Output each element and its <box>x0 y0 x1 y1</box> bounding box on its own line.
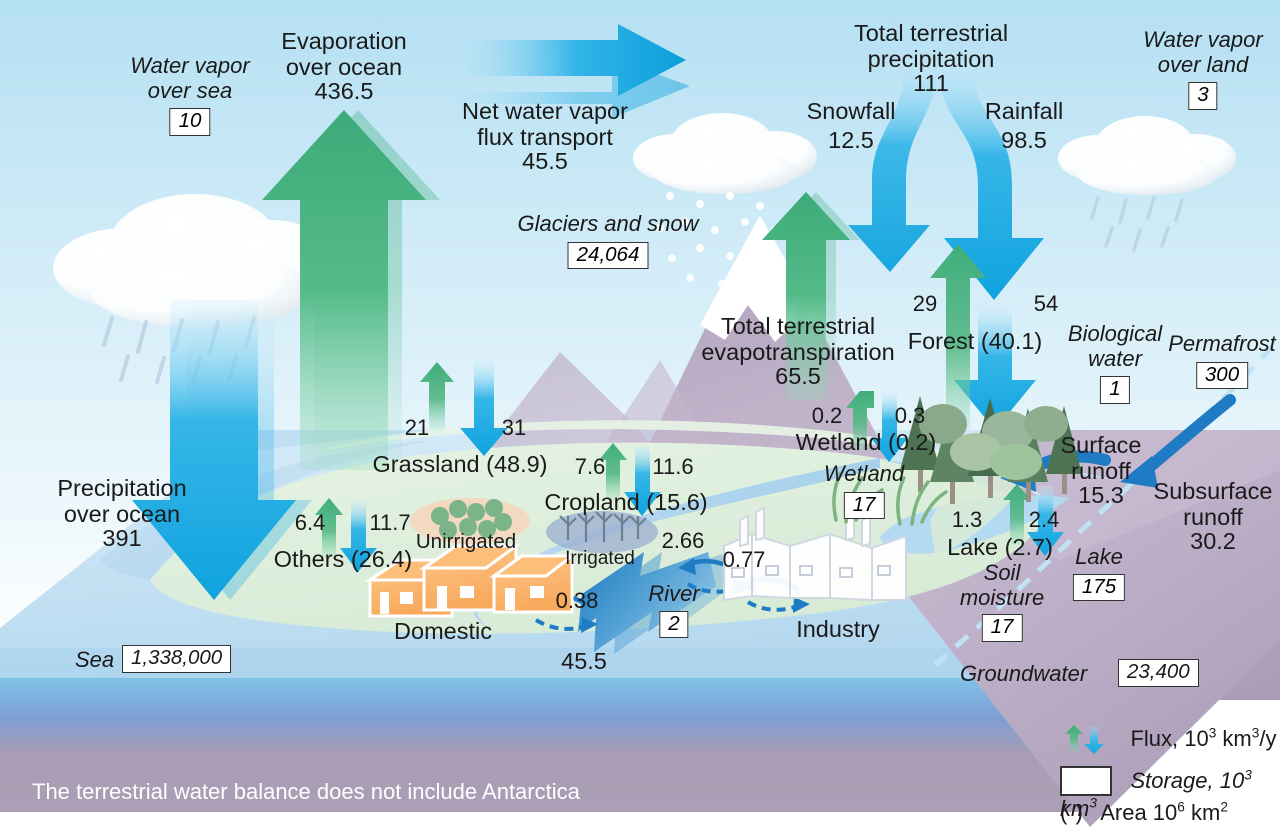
biological-water-group: Biological water 1 <box>1068 322 1162 404</box>
sea-value: 1,338,000 <box>122 645 231 673</box>
total-terrestrial-evapotranspiration-label: Total terrestrial evapotranspiration <box>701 313 894 366</box>
irrigated-plot-icon <box>546 511 658 553</box>
irrigated-label: Irrigated <box>565 548 635 569</box>
glaciers-and-snow-group: Glaciers and snow 24,064 <box>518 212 699 269</box>
river-storage-label: River <box>648 582 699 607</box>
legend-area-row: ( ) Area 106 km2 <box>1060 800 1228 826</box>
surface-runoff-value: 15.3 <box>1078 482 1124 508</box>
evaporation-over-ocean-label: Evaporation over ocean <box>281 28 406 81</box>
water-vapor-over-land-storage: 3 <box>1188 82 1217 110</box>
lake-up-value: 1.3 <box>952 508 983 533</box>
others-label: Others (26.4) <box>274 546 412 572</box>
total-terrestrial-precipitation-value: 111 <box>913 70 949 96</box>
legend-area-paren-icon: ( ) <box>1060 800 1084 825</box>
biological-water-storage: 1 <box>1100 376 1129 404</box>
lake-flux-label: Lake (2.7) <box>947 534 1053 560</box>
forest-up-value: 29 <box>913 292 937 317</box>
river-storage-value: 2 <box>659 611 688 639</box>
biological-water-label: Biological water <box>1068 322 1162 371</box>
rainfall-value: 98.5 <box>1001 127 1047 153</box>
total-terrestrial-precipitation-label: Total terrestrial precipitation <box>854 20 1008 73</box>
snowfall-value: 12.5 <box>828 127 874 153</box>
river-storage-group: River 2 <box>648 582 699 638</box>
legend-flux-arrows-icon <box>1060 724 1112 754</box>
rainfall-label: Rainfall <box>985 98 1063 124</box>
water-vapor-over-sea-storage: 10 <box>170 108 211 136</box>
forest-down-value: 54 <box>1034 292 1058 317</box>
total-terrestrial-evapotranspiration-value: 65.5 <box>775 363 821 389</box>
glaciers-and-snow-storage: 24,064 <box>568 242 649 270</box>
wetland-flux-label: Wetland (0.2) <box>796 429 937 455</box>
precipitation-over-ocean-label: Precipitation over ocean <box>57 475 186 528</box>
evaporation-over-ocean-value: 436.5 <box>315 78 374 104</box>
lake-storage-group: Lake 175 <box>1073 545 1125 601</box>
glaciers-and-snow-label: Glaciers and snow <box>518 212 699 237</box>
legend-storage-box-icon <box>1060 766 1112 796</box>
grassland-down-value: 31 <box>502 416 526 441</box>
water-cycle-diagram: Water vapor over sea 10 Evaporation over… <box>0 0 1280 827</box>
others-down-value: 11.7 <box>369 511 410 536</box>
grassland-label: Grassland (48.9) <box>372 451 547 477</box>
subsurface-runoff-label: Subsurface runoff <box>1154 478 1273 531</box>
permafrost-label: Permafrost <box>1168 332 1276 357</box>
groundwater-value: 23,400 <box>1118 659 1199 687</box>
subsurface-runoff-value: 30.2 <box>1190 528 1236 554</box>
net-vapor-flux-value: 45.5 <box>522 148 568 174</box>
footer-caption: The terrestrial water balance does not i… <box>32 779 580 805</box>
soil-moisture-label: Soil moisture <box>960 561 1044 610</box>
permafrost-group: Permafrost 300 <box>1168 332 1276 389</box>
domestic-label: Domestic <box>394 618 492 644</box>
irrigated-withdrawal-value: 2.66 <box>662 529 705 554</box>
lake-down-value: 2.4 <box>1029 508 1060 533</box>
soil-moisture-value: 17 <box>982 614 1023 642</box>
snowfall-label: Snowfall <box>807 98 896 124</box>
cropland-label: Cropland (15.6) <box>544 489 707 515</box>
soil-moisture-group: Soil moisture 17 <box>960 561 1044 642</box>
domestic-withdrawal-value: 0.38 <box>556 589 599 614</box>
cropland-up-value: 7.6 <box>575 455 606 480</box>
lake-storage-value: 175 <box>1073 574 1125 602</box>
groundwater-label: Groundwater <box>960 662 1087 687</box>
forest-label: Forest (40.1) <box>908 328 1043 354</box>
water-vapor-over-sea-group: Water vapor over sea 10 <box>130 54 249 136</box>
permafrost-storage: 300 <box>1196 362 1248 390</box>
surface-runoff-label: Surface runoff <box>1061 432 1142 485</box>
industry-withdrawal-value: 0.77 <box>723 548 766 573</box>
industry-label: Industry <box>796 616 880 642</box>
lake-storage-label: Lake <box>1073 545 1125 570</box>
grassland-up-value: 21 <box>405 416 429 441</box>
sea-label: Sea <box>75 648 114 673</box>
river-discharge-value: 45.5 <box>561 648 607 674</box>
legend-area-text: Area 106 km2 <box>1100 800 1228 825</box>
wetland-storage-label: Wetland <box>824 462 904 487</box>
wetland-storage-value: 17 <box>844 492 885 520</box>
wetland-storage-group: Wetland 17 <box>824 462 904 519</box>
net-vapor-flux-label: Net water vapor flux transport <box>462 98 628 151</box>
water-vapor-over-land-group: Water vapor over land 3 <box>1143 28 1262 110</box>
wetland-up-value: 0.2 <box>812 404 843 429</box>
water-vapor-over-land-label: Water vapor over land <box>1143 28 1262 77</box>
legend-flux-row: Flux, 103 km3/y <box>1060 724 1276 754</box>
legend-flux-text: Flux, 103 km3/y <box>1130 726 1276 751</box>
unirrigated-label: Unirrigated <box>416 531 516 554</box>
precipitation-over-ocean-value: 391 <box>102 525 141 551</box>
water-vapor-over-sea-label: Water vapor over sea <box>130 54 249 103</box>
cropland-down-value: 11.6 <box>652 455 693 480</box>
others-up-value: 6.4 <box>295 511 326 536</box>
wetland-down-value: 0.3 <box>895 404 926 429</box>
